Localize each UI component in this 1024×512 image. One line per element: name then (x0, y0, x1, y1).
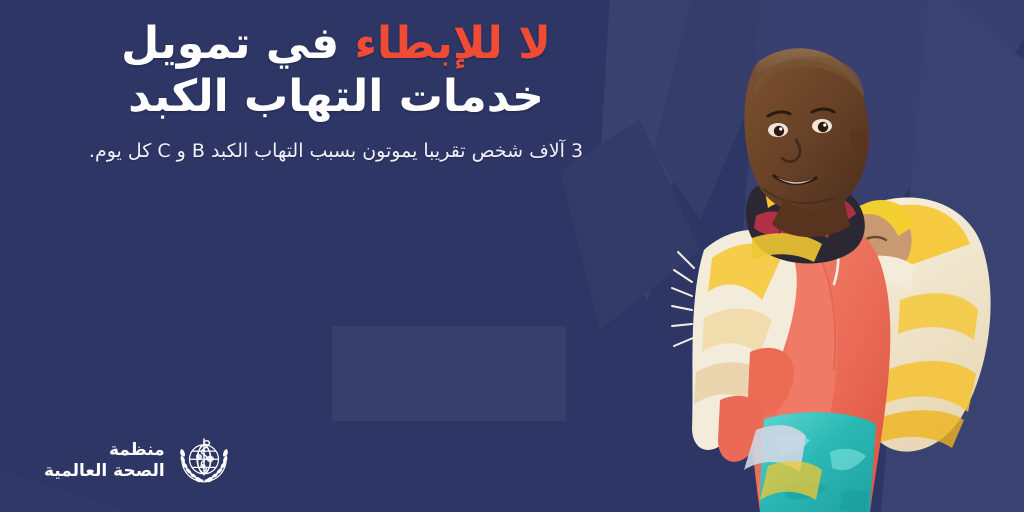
who-wordmark: منظمة الصحة العالمية (44, 440, 165, 482)
copy-block: لا للإبطاء في تمويل خدمات التهاب الكبد 3… (0, 18, 672, 165)
who-wordmark-line-2: الصحة العالمية (44, 461, 165, 482)
who-wordmark-line-1: منظمة (44, 440, 165, 461)
who-logo: منظمة الصحة العالمية (44, 432, 233, 490)
bg-rect-soft (332, 326, 566, 421)
headline-line-2: خدمات التهاب الكبد (0, 71, 672, 122)
subtitle-text: 3 آلاف شخص تقريبا يموتون بسبب التهاب الك… (0, 139, 672, 165)
who-emblem-icon (175, 432, 233, 490)
headline-accent-text: لا للإبطاء (354, 18, 550, 69)
photo-child-carrying-baby: طفل يحمل رضيعا على ظهره (664, 0, 1024, 512)
hepatitis-funding-banner: طفل يحمل رضيعا على ظهره لا للإبطاء في تم… (0, 0, 1024, 512)
child-head (744, 48, 869, 213)
headline-line-1-rest: في تمويل (121, 18, 339, 69)
headline-line-1: لا للإبطاء في تمويل (0, 18, 672, 69)
